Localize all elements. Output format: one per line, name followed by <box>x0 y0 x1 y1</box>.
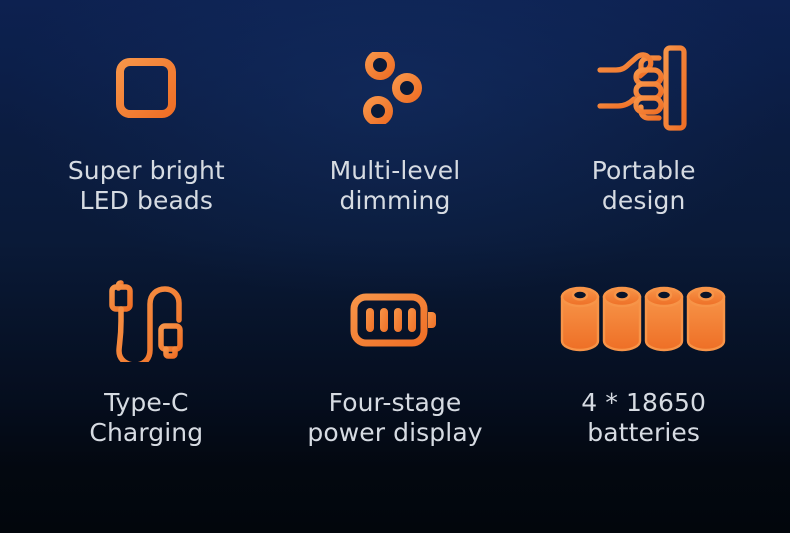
usb-cable-icon <box>106 260 186 380</box>
battery-four-bars-icon <box>350 260 440 380</box>
feature-label: Type-C Charging <box>89 388 203 448</box>
cpu-chip-icon <box>102 28 190 148</box>
feature-label: Portable design <box>592 156 696 216</box>
feature-item-type-c-charging: Type-C Charging <box>22 260 271 492</box>
feature-highlight-panel: Super bright LED beads <box>0 0 790 533</box>
feature-item-super-bright-led-beads: Super bright LED beads <box>22 28 271 260</box>
hand-grip-bar-icon <box>596 28 692 148</box>
feature-label: Multi-level dimming <box>330 156 461 216</box>
feature-label: Super bright LED beads <box>68 156 225 216</box>
sliders-icon <box>350 28 440 148</box>
feature-item-portable-design: Portable design <box>519 28 768 260</box>
feature-item-four-stage-power-display: Four-stage power display <box>271 260 520 492</box>
feature-item-18650-batteries: 4 * 18650 batteries <box>519 260 768 492</box>
four-batteries-icon <box>560 260 728 380</box>
feature-label: Four-stage power display <box>307 388 482 448</box>
feature-grid: Super bright LED beads <box>0 0 790 533</box>
feature-label: 4 * 18650 batteries <box>581 388 706 448</box>
feature-item-multi-level-dimming: Multi-level dimming <box>271 28 520 260</box>
